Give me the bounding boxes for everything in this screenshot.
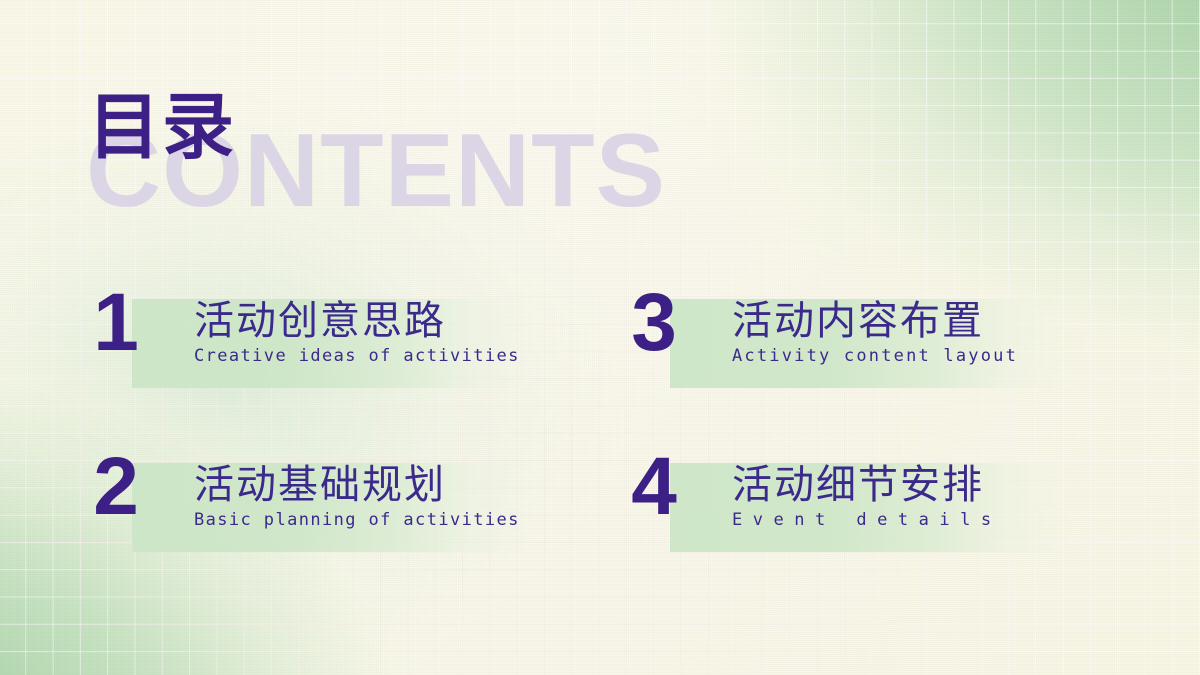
item-subtitle-en-4: Event details (732, 511, 1092, 530)
toc-item-4[interactable]: 4 活动细节安排 Event details (622, 456, 1102, 556)
item-subtitle-en-1: Creative ideas of activities (194, 347, 554, 366)
item-number-2: 2 (84, 446, 148, 528)
item-title-cn-1: 活动创意思路 (194, 300, 554, 343)
item-text-group-1: 活动创意思路 Creative ideas of activities (194, 300, 554, 366)
item-text-group-2: 活动基础规划 Basic planning of activities (194, 464, 554, 530)
presentation-slide: CONTENTS 目录 1 活动创意思路 Creative ideas of a… (0, 0, 1200, 675)
item-number-1: 1 (84, 282, 148, 364)
item-title-cn-3: 活动内容布置 (732, 300, 1092, 343)
item-subtitle-en-3: Activity content layout (732, 347, 1092, 366)
item-subtitle-en-2: Basic planning of activities (194, 511, 554, 530)
toc-item-2[interactable]: 2 活动基础规划 Basic planning of activities (84, 456, 564, 556)
item-title-cn-4: 活动细节安排 (732, 464, 1092, 507)
slide-title-block: CONTENTS 目录 (86, 92, 606, 232)
item-text-group-4: 活动细节安排 Event details (732, 464, 1092, 530)
item-title-cn-2: 活动基础规划 (194, 464, 554, 507)
toc-item-3[interactable]: 3 活动内容布置 Activity content layout (622, 292, 1102, 392)
toc-item-1[interactable]: 1 活动创意思路 Creative ideas of activities (84, 292, 564, 392)
item-number-4: 4 (622, 446, 686, 528)
item-number-3: 3 (622, 282, 686, 364)
item-text-group-3: 活动内容布置 Activity content layout (732, 300, 1092, 366)
title-chinese-mulu: 目录 (88, 92, 236, 164)
